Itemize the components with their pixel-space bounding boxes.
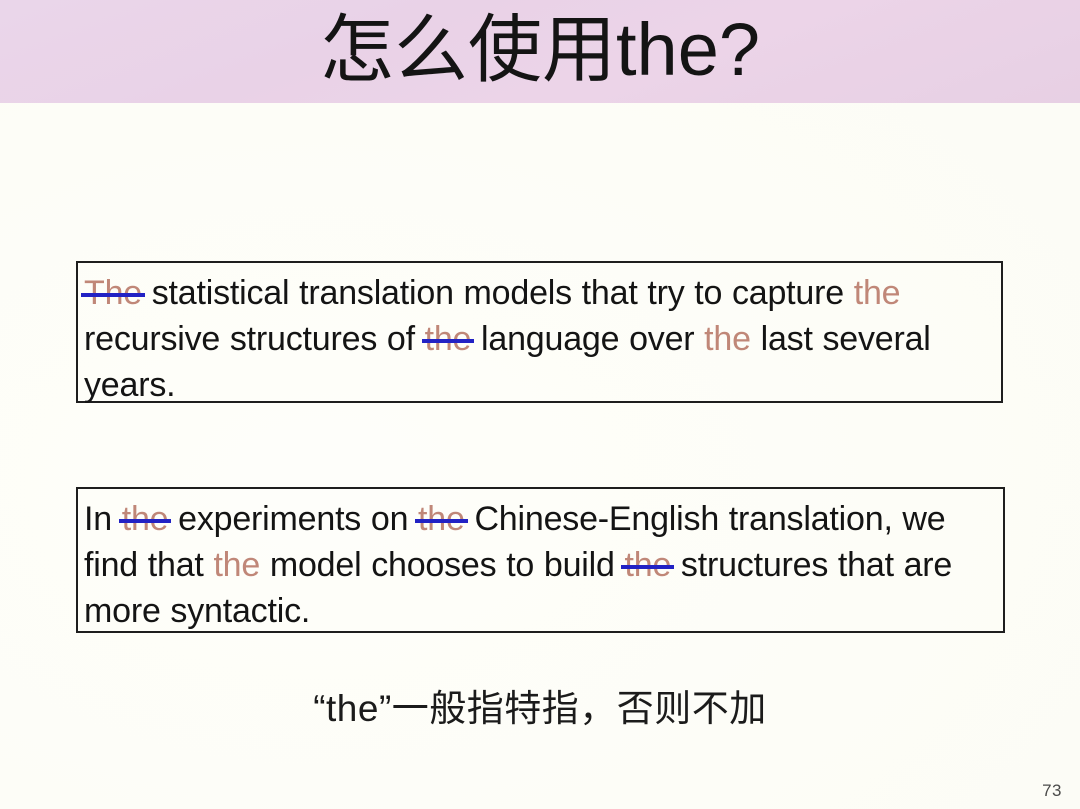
title-banner: 怎么使用the? <box>0 0 1080 103</box>
caption-text: “the”一般指特指，否则不加 <box>0 686 1080 732</box>
highlighted-the-word: the <box>213 546 260 584</box>
quote-box-2: In the experiments on the Chinese-Englis… <box>76 487 1005 633</box>
struck-the-word: the <box>624 542 671 588</box>
page-number: 73 <box>1042 781 1062 801</box>
slide-canvas: 怎么使用the? The statistical translation mod… <box>0 0 1080 809</box>
quote-box-1: The statistical translation models that … <box>76 261 1003 403</box>
highlighted-the-word: the <box>704 320 751 358</box>
page-title: 怎么使用the? <box>0 0 1080 103</box>
quote-text-2: In the experiments on the Chinese-Englis… <box>84 496 993 634</box>
quote-text-1: The statistical translation models that … <box>84 270 991 408</box>
struck-the-word: the <box>122 496 169 542</box>
struck-the-word: the <box>425 316 472 362</box>
struck-the-word: the <box>418 496 465 542</box>
struck-the-word: The <box>84 270 142 316</box>
highlighted-the-word: the <box>854 274 901 312</box>
